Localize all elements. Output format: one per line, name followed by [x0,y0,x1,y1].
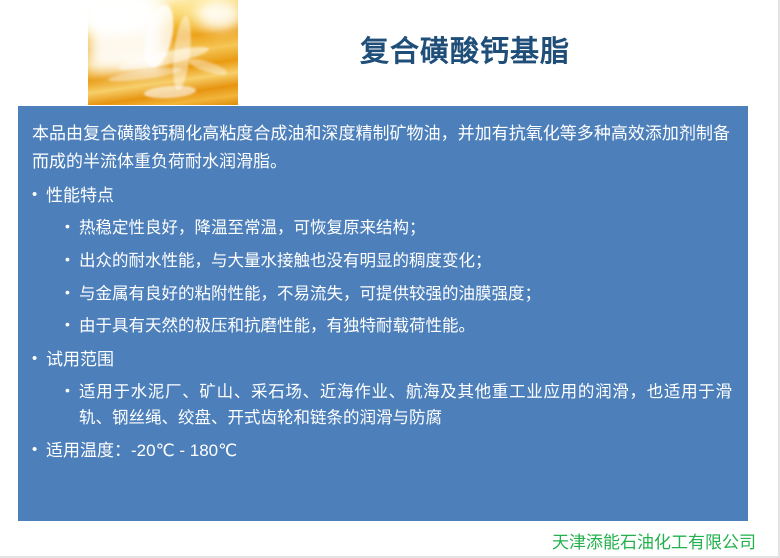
list-item: 出众的耐水性能，与大量水接触也没有明显的稠度变化； [64,249,732,275]
section-performance: 性能特点 热稳定性良好，降温至常温，可恢复原来结构； 出众的耐水性能，与大量水接… [30,183,732,340]
feature-list: 性能特点 热稳定性良好，降温至常温，可恢复原来结构； 出众的耐水性能，与大量水接… [30,183,732,464]
company-footer: 天津添能石油化工有限公司 [552,528,756,553]
list-item: 适用于水泥厂、矿山、采石场、近海作业、航海及其他重工业应用的润滑，也适用于滑轨、… [64,380,732,431]
list-item: 由于具有天然的极压和抗磨性能，有独特耐载荷性能。 [64,314,732,340]
section-heading-performance: 性能特点 [46,186,114,205]
page-title: 复合磺酸钙基脂 [360,28,570,70]
content-panel: 本品由复合磺酸钙稠化高粘度合成油和深度精制矿物油，并加有抗氧化等多种高效添加剂制… [18,106,748,521]
application-points: 适用于水泥厂、矿山、采石场、近海作业、航海及其他重工业应用的润滑，也适用于滑轨、… [46,380,732,431]
section-application: 试用范围 适用于水泥厂、矿山、采石场、近海作业、航海及其他重工业应用的润滑，也适… [30,347,732,431]
section-heading-application: 试用范围 [46,350,114,369]
temperature-range-text: 适用温度：-20℃ - 180℃ [46,441,237,460]
intro-paragraph: 本品由复合磺酸钙稠化高粘度合成油和深度精制矿物油，并加有抗氧化等多种高效添加剂制… [32,120,730,175]
grease-flow-image [88,0,238,105]
performance-points: 热稳定性良好，降温至常温，可恢复原来结构； 出众的耐水性能，与大量水接触也没有明… [46,216,732,339]
list-item: 与金属有良好的粘附性能，不易流失，可提供较强的油膜强度； [64,282,732,308]
slide: 复合磺酸钙基脂 本品由复合磺酸钙稠化高粘度合成油和深度精制矿物油，并加有抗氧化等… [0,0,780,558]
list-item: 热稳定性良好，降温至常温，可恢复原来结构； [64,216,732,242]
slide-header: 复合磺酸钙基脂 [0,0,780,106]
section-temperature: 适用温度：-20℃ - 180℃ [30,438,732,464]
